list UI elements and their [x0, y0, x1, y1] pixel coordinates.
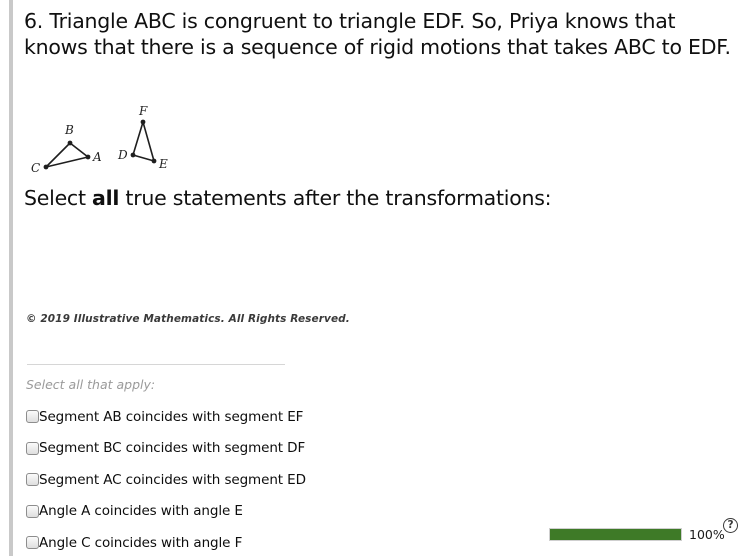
copyright-notice: © 2019 Illustrative Mathematics. All Rig…: [26, 313, 350, 325]
option-row[interactable]: Segment AC coincides with segment ED: [26, 464, 486, 496]
checkbox-icon[interactable]: [26, 536, 39, 549]
checkbox-icon[interactable]: [26, 442, 39, 455]
vertex-f-dot: [141, 120, 146, 125]
answer-area-divider: [27, 364, 285, 365]
vertex-b-label: B: [64, 123, 74, 137]
checkbox-icon[interactable]: [26, 410, 39, 423]
option-row[interactable]: Angle C coincides with angle F: [26, 527, 486, 559]
vertex-b-dot: [68, 141, 73, 146]
progress-indicator: 100%: [549, 527, 725, 542]
progress-percent-label: 100%: [689, 527, 725, 542]
select-all-prompt: Select all true statements after the tra…: [24, 185, 551, 211]
option-label: Segment AB coincides with segment EF: [39, 409, 303, 425]
select-all-that-apply-label: Select all that apply:: [26, 377, 155, 392]
vertex-d-label: D: [117, 148, 128, 162]
option-label: Angle A coincides with angle E: [39, 503, 243, 519]
option-label: Segment AC coincides with segment ED: [39, 472, 306, 488]
help-icon[interactable]: ?: [723, 518, 738, 533]
option-label: Angle C coincides with angle F: [39, 535, 242, 551]
vertex-a-label: A: [92, 150, 102, 164]
vertex-a-dot: [86, 155, 91, 160]
left-edge-rule: [9, 0, 13, 556]
option-row[interactable]: Segment AB coincides with segment EF: [26, 401, 486, 433]
option-row[interactable]: Angle A coincides with angle E: [26, 496, 486, 528]
vertex-c-dot: [44, 165, 49, 170]
triangle-abc: [46, 143, 88, 167]
checkbox-icon[interactable]: [26, 473, 39, 486]
progress-bar-track: [549, 528, 682, 541]
question-page: 6. Triangle ABC is congruent to triangle…: [0, 0, 748, 556]
option-row[interactable]: Segment BC coincides with segment DF: [26, 433, 486, 465]
question-stem: 6. Triangle ABC is congruent to triangle…: [24, 9, 740, 60]
vertex-e-label: E: [158, 157, 168, 171]
triangle-def: [133, 122, 154, 161]
select-prompt-before: Select: [24, 186, 92, 210]
checkbox-icon[interactable]: [26, 505, 39, 518]
answer-options-list: Segment AB coincides with segment EF Seg…: [26, 401, 486, 559]
select-prompt-emphasis: all: [92, 186, 119, 210]
option-label: Segment BC coincides with segment DF: [39, 440, 305, 456]
vertex-c-label: C: [31, 161, 40, 175]
progress-bar-fill: [550, 529, 681, 540]
vertex-e-dot: [152, 159, 157, 164]
vertex-d-dot: [131, 153, 136, 158]
select-prompt-after: true statements after the transformation…: [119, 186, 551, 210]
vertex-f-label: F: [138, 104, 148, 118]
congruent-triangles-figure: A B C D E F: [14, 98, 214, 183]
